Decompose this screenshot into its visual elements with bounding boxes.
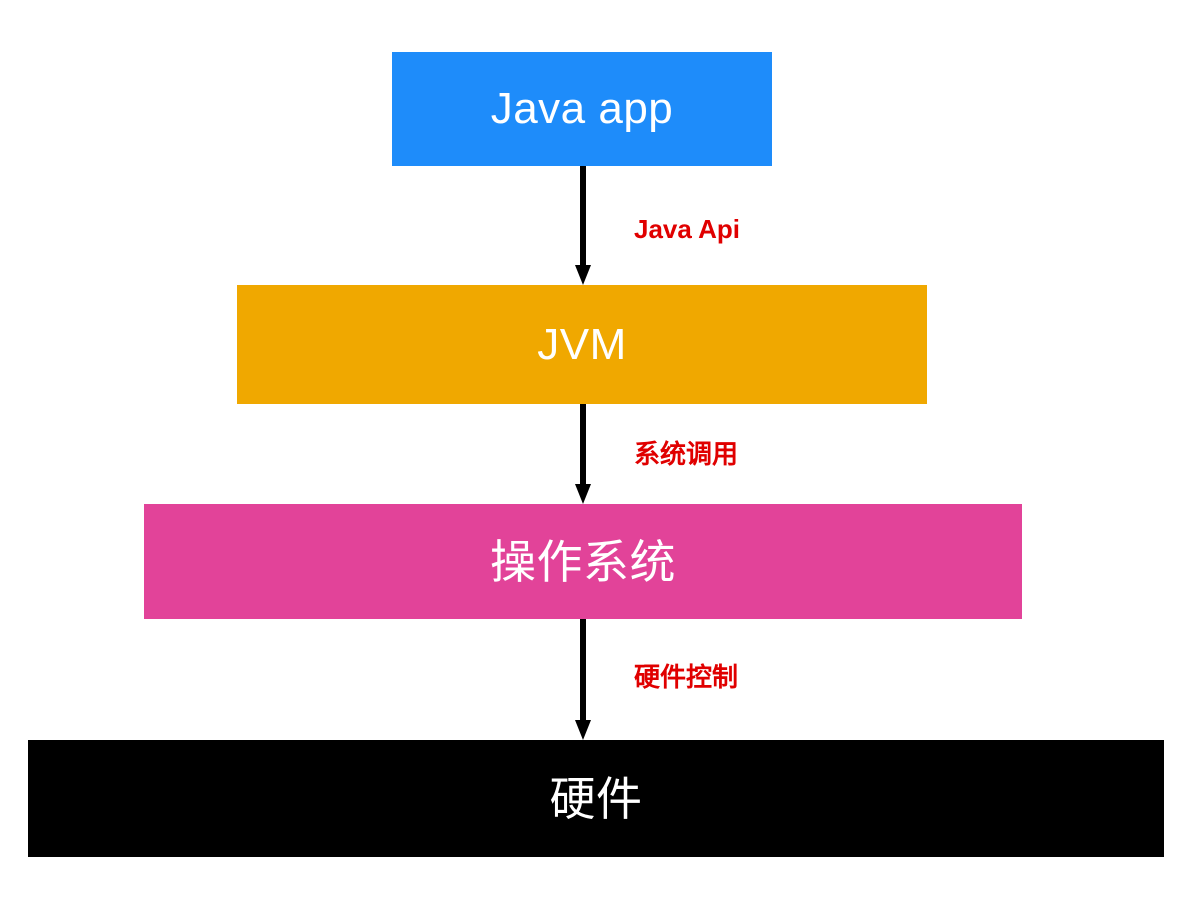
diagram-canvas: Java app Java Api JVM 系统调用 操作系统 硬件控制 硬件 [0,0,1190,904]
layer-label-jvm: JVM [537,323,627,367]
layer-label-operating-system: 操作系统 [490,539,676,585]
layer-label-hardware: 硬件 [550,776,643,822]
layer-box-operating-system: 操作系统 [144,504,1022,619]
arrow-down-icon [575,404,591,504]
connector-label-hardware-control: 硬件控制 [634,664,738,690]
connector-label-syscall: 系统调用 [634,441,738,467]
layer-box-jvm: JVM [237,285,927,404]
layer-box-java-app: Java app [392,52,772,166]
connector-jvm-to-os [575,404,591,504]
connector-os-to-hardware [575,619,591,740]
layer-box-hardware: 硬件 [28,740,1164,857]
layer-label-java-app: Java app [491,87,674,131]
arrow-down-icon [575,166,591,285]
connector-label-java-api: Java Api [634,216,740,242]
arrow-down-icon [575,619,591,740]
connector-java-app-to-jvm [575,166,591,285]
